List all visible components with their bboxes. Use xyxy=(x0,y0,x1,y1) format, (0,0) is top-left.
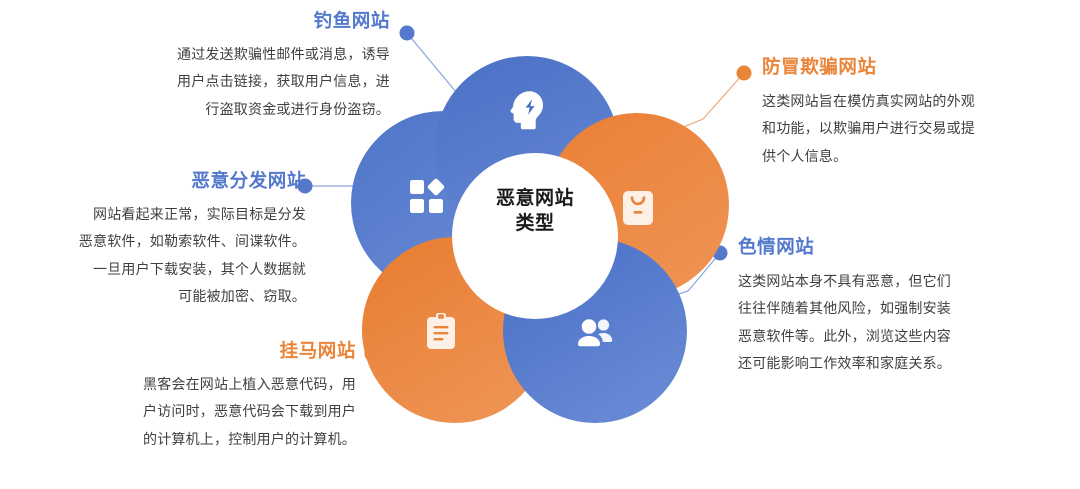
desc-line: 恶意软件等。此外，浏览这些内容 xyxy=(738,323,1038,350)
block-spoof-description: 这类网站旨在模仿真实网站的外观 和功能，以欺骗用户进行交易或提 供个人信息。 xyxy=(762,88,1062,170)
block-malware-title: 恶意分发网站 xyxy=(6,170,306,192)
infographic-canvas: 恶意网站 类型 钓鱼网站 通过发送欺骗性邮件或消息，诱导 用户点击链接，获取用户… xyxy=(0,0,1080,489)
desc-line: 一旦用户下载安装，其个人数据就 xyxy=(6,256,306,283)
desc-line: 和功能，以欺骗用户进行交易或提 xyxy=(762,115,1062,142)
desc-line: 黑客会在网站上植入恶意代码，用 xyxy=(62,371,356,398)
block-malware-description: 网站看起来正常，实际目标是分发 恶意软件，如勒索软件、间谍软件。 一旦用户下载安… xyxy=(6,201,306,310)
center-label-line2: 类型 xyxy=(453,211,617,236)
block-porn[interactable]: 色情网站 这类网站本身不具有恶意，但它们 往往伴随着其他风险，如强制安装 恶意软… xyxy=(738,236,1038,377)
desc-line: 这类网站本身不具有恶意，但它们 xyxy=(738,268,1038,295)
block-hanging-description: 黑客会在网站上植入恶意代码，用 户访问时，恶意代码会下载到用户 的计算机上，控制… xyxy=(62,371,356,453)
center-label: 恶意网站 类型 xyxy=(453,186,617,236)
block-porn-title: 色情网站 xyxy=(738,236,1038,258)
block-spoof[interactable]: 防冒欺骗网站 这类网站旨在模仿真实网站的外观 和功能，以欺骗用户进行交易或提 供… xyxy=(762,56,1062,170)
desc-line: 行盗取资金或进行身份盗窃。 xyxy=(104,96,390,123)
shopping-bag-icon xyxy=(623,191,653,225)
block-porn-description: 这类网站本身不具有恶意，但它们 往往伴随着其他风险，如强制安装 恶意软件等。此外… xyxy=(738,268,1038,377)
block-phishing[interactable]: 钓鱼网站 通过发送欺骗性邮件或消息，诱导 用户点击链接，获取用户信息，进 行盗取… xyxy=(104,10,390,123)
desc-line: 的计算机上，控制用户的计算机。 xyxy=(62,426,356,453)
clipboard-icon xyxy=(427,313,455,349)
desc-line: 用户点击链接，获取用户信息，进 xyxy=(104,68,390,95)
desc-line: 往往伴随着其他风险，如强制安装 xyxy=(738,295,1038,322)
block-hanging-title: 挂马网站 xyxy=(62,340,356,362)
desc-line: 这类网站旨在模仿真实网站的外观 xyxy=(762,88,1062,115)
desc-line: 供个人信息。 xyxy=(762,143,1062,170)
block-phishing-description: 通过发送欺骗性邮件或消息，诱导 用户点击链接，获取用户信息，进 行盗取资金或进行… xyxy=(104,41,390,123)
desc-line: 通过发送欺骗性邮件或消息，诱导 xyxy=(104,41,390,68)
block-malware[interactable]: 恶意分发网站 网站看起来正常，实际目标是分发 恶意软件，如勒索软件、间谍软件。 … xyxy=(6,170,306,310)
desc-line: 还可能影响工作效率和家庭关系。 xyxy=(738,350,1038,377)
block-phishing-title: 钓鱼网站 xyxy=(104,10,390,32)
dot-spoof xyxy=(737,66,752,81)
block-spoof-title: 防冒欺骗网站 xyxy=(762,56,1062,78)
block-hanging[interactable]: 挂马网站 黑客会在网站上植入恶意代码，用 户访问时，恶意代码会下载到用户 的计算… xyxy=(62,340,356,453)
desc-line: 网站看起来正常，实际目标是分发 xyxy=(6,201,306,228)
desc-line: 恶意软件，如勒索软件、间谍软件。 xyxy=(6,228,306,255)
desc-line: 户访问时，恶意代码会下载到用户 xyxy=(62,398,356,425)
desc-line: 可能被加密、窃取。 xyxy=(6,283,306,310)
dot-phishing xyxy=(400,26,415,41)
center-label-line1: 恶意网站 xyxy=(453,186,617,211)
